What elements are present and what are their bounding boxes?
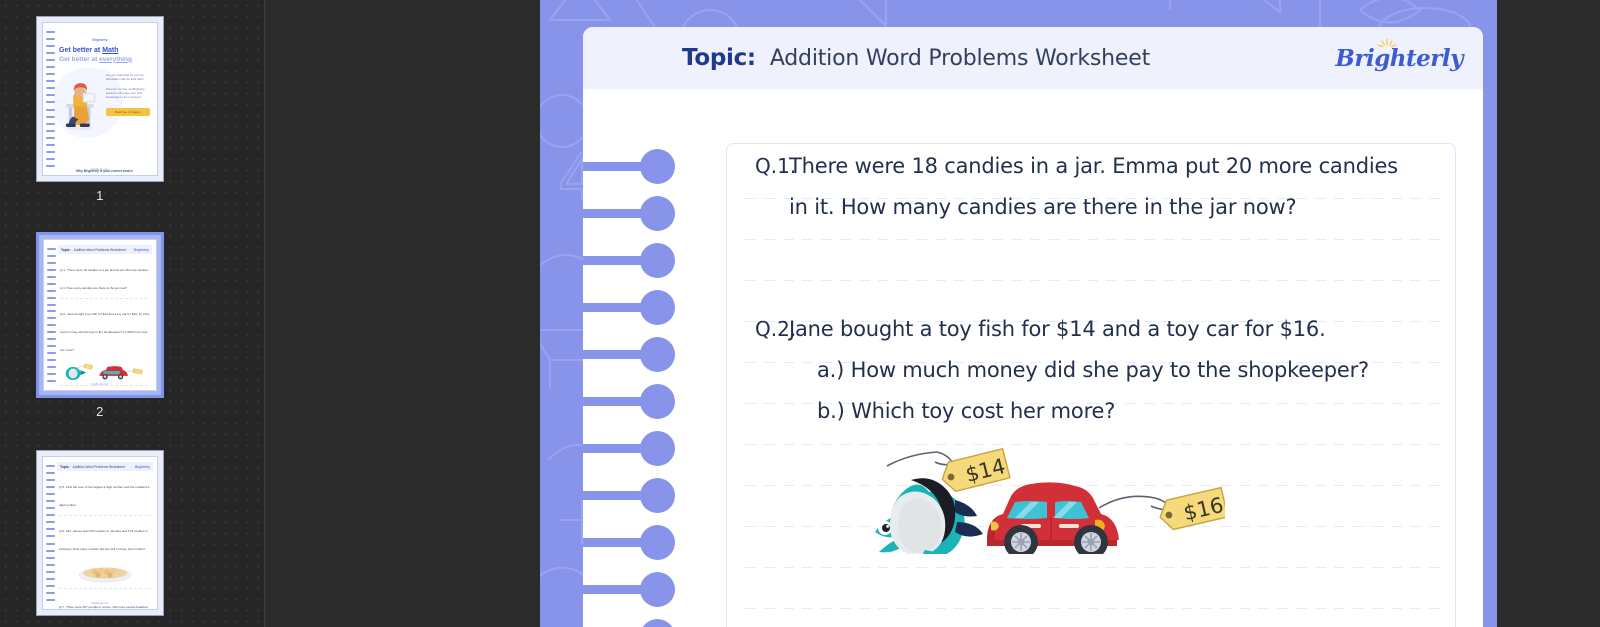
thumbnail-cookies-illustration: [59, 559, 151, 585]
cover-illustration: [59, 73, 101, 135]
sunburst-icon: [1376, 38, 1398, 52]
screen-root: Brighterly Get better at Math Get better…: [0, 0, 1600, 627]
thumbnail-question: Q.2.Jane bought a toy fish for $14 and a…: [60, 302, 150, 356]
thumbnail-illustration: [60, 360, 150, 382]
thumbnail-page-number: 2: [96, 404, 104, 419]
cover-cta-button[interactable]: Book free 1:1 lesson: [106, 108, 150, 116]
document-viewer[interactable]: 4: [540, 0, 1497, 627]
question-block-1: Q.1. There were 18 candies in a jar. Emm…: [727, 146, 1455, 228]
viewer-gutter: [266, 0, 540, 627]
thumbnail-spiral: [46, 465, 55, 601]
topic-title: Addition Word Problems Worksheet: [770, 46, 1150, 71]
toy-car: [987, 482, 1119, 554]
thumbnail-frame-selected[interactable]: Topic: Addition Word Problems Worksheet …: [36, 232, 164, 398]
price-tag-fish: $14: [939, 449, 1010, 494]
thumbnail-cover-body: Get better at Math Get better at everyth…: [59, 47, 150, 176]
thumbnail-frame[interactable]: Topic: Addition Word Problems Worksheet …: [36, 450, 164, 616]
cover-footer: brighterly.com: [43, 167, 157, 171]
brighterly-logo: Brighterly: [1335, 45, 1467, 72]
cover-heading-1: Get better at Math: [59, 47, 150, 56]
worksheet-page[interactable]: Topic: Addition Word Problems Worksheet …: [583, 27, 1483, 627]
cover-paragraph-1: Are you searching for your an affordable…: [106, 73, 150, 82]
thumbnail-footer: brighterly.com: [44, 382, 156, 386]
thumbnail-preview-cover: Brighterly Get better at Math Get better…: [42, 22, 158, 176]
question-subpart-b: b.) Which toy cost her more?: [727, 391, 1455, 432]
thumbnail-question: Q.6.Mrs. James sold 154 cookies in Janua…: [59, 519, 151, 555]
thumbnail-header: Topic: Addition Word Problems Worksheet …: [58, 245, 152, 254]
thumbnail-brand: Brighterly: [43, 28, 157, 46]
worksheet-content-card: Q.1. There were 18 candies in a jar. Emm…: [726, 143, 1456, 627]
question-number: Q.1.: [727, 146, 789, 187]
fish-price-tag-string: [887, 452, 953, 466]
thumbnail-spiral: [47, 248, 56, 382]
thumbnail-question: Q.5.Find the sum of the largest 2-digit …: [59, 475, 151, 511]
question-text-line: in it. How many candies are there in the…: [789, 187, 1398, 228]
brand-wordmark: Brighterly: [1335, 45, 1463, 72]
cover-heading-2: Get better at everything: [59, 56, 150, 64]
thumbnail-preview-worksheet: Topic: Addition Word Problems Worksheet …: [43, 239, 157, 391]
page-thumbnail-panel[interactable]: Brighterly Get better at Math Get better…: [0, 0, 265, 627]
thumbnail-footer: brighterly.com: [43, 601, 157, 605]
thumbnail-page-3[interactable]: Topic: Addition Word Problems Worksheet …: [36, 450, 164, 616]
thumbnail-questions: Q.5.Find the sum of the largest 2-digit …: [59, 475, 151, 597]
toy-price-tags-illustration: $14: [855, 444, 1225, 554]
question-number: Q.2.: [727, 309, 789, 350]
thumbnail-page-number: 1: [96, 188, 104, 203]
question-block-2: Q.2. Jane bought a toy fish for $14 and …: [727, 309, 1455, 432]
thumbnail-preview-worksheet: Topic: Addition Word Problems Worksheet …: [42, 456, 158, 610]
cover-paragraph-2: Discover for free, as Brighterly teacher…: [106, 87, 150, 100]
spiral-binding: [583, 27, 682, 627]
topic-label: Topic:: [682, 45, 756, 71]
thumbnail-questions: Q.1.There were 18 candies in a jar. Emma…: [60, 258, 150, 378]
question-subpart-a: a.) How much money did she pay to the sh…: [727, 350, 1455, 391]
worksheet-header: Topic: Addition Word Problems Worksheet …: [583, 27, 1483, 89]
price-tag-car: $16: [1157, 488, 1225, 532]
question-text-line: There were 18 candies in a jar. Emma put…: [789, 146, 1398, 187]
thumbnail-header: Topic: Addition Word Problems Worksheet …: [57, 462, 153, 471]
thumbnail-page-2[interactable]: Topic: Addition Word Problems Worksheet …: [36, 232, 164, 419]
thumbnail-spiral: [46, 31, 55, 167]
thumbnail-frame[interactable]: Brighterly Get better at Math Get better…: [36, 16, 164, 182]
question-text-line: Jane bought a toy fish for $14 and a toy…: [789, 309, 1326, 350]
thumbnail-page-1[interactable]: Brighterly Get better at Math Get better…: [36, 16, 164, 203]
toy-fish: [875, 478, 983, 554]
thumbnail-question: Q.1.There were 18 candies in a jar. Emma…: [60, 258, 150, 294]
car-price-tag-string: [1099, 496, 1171, 510]
